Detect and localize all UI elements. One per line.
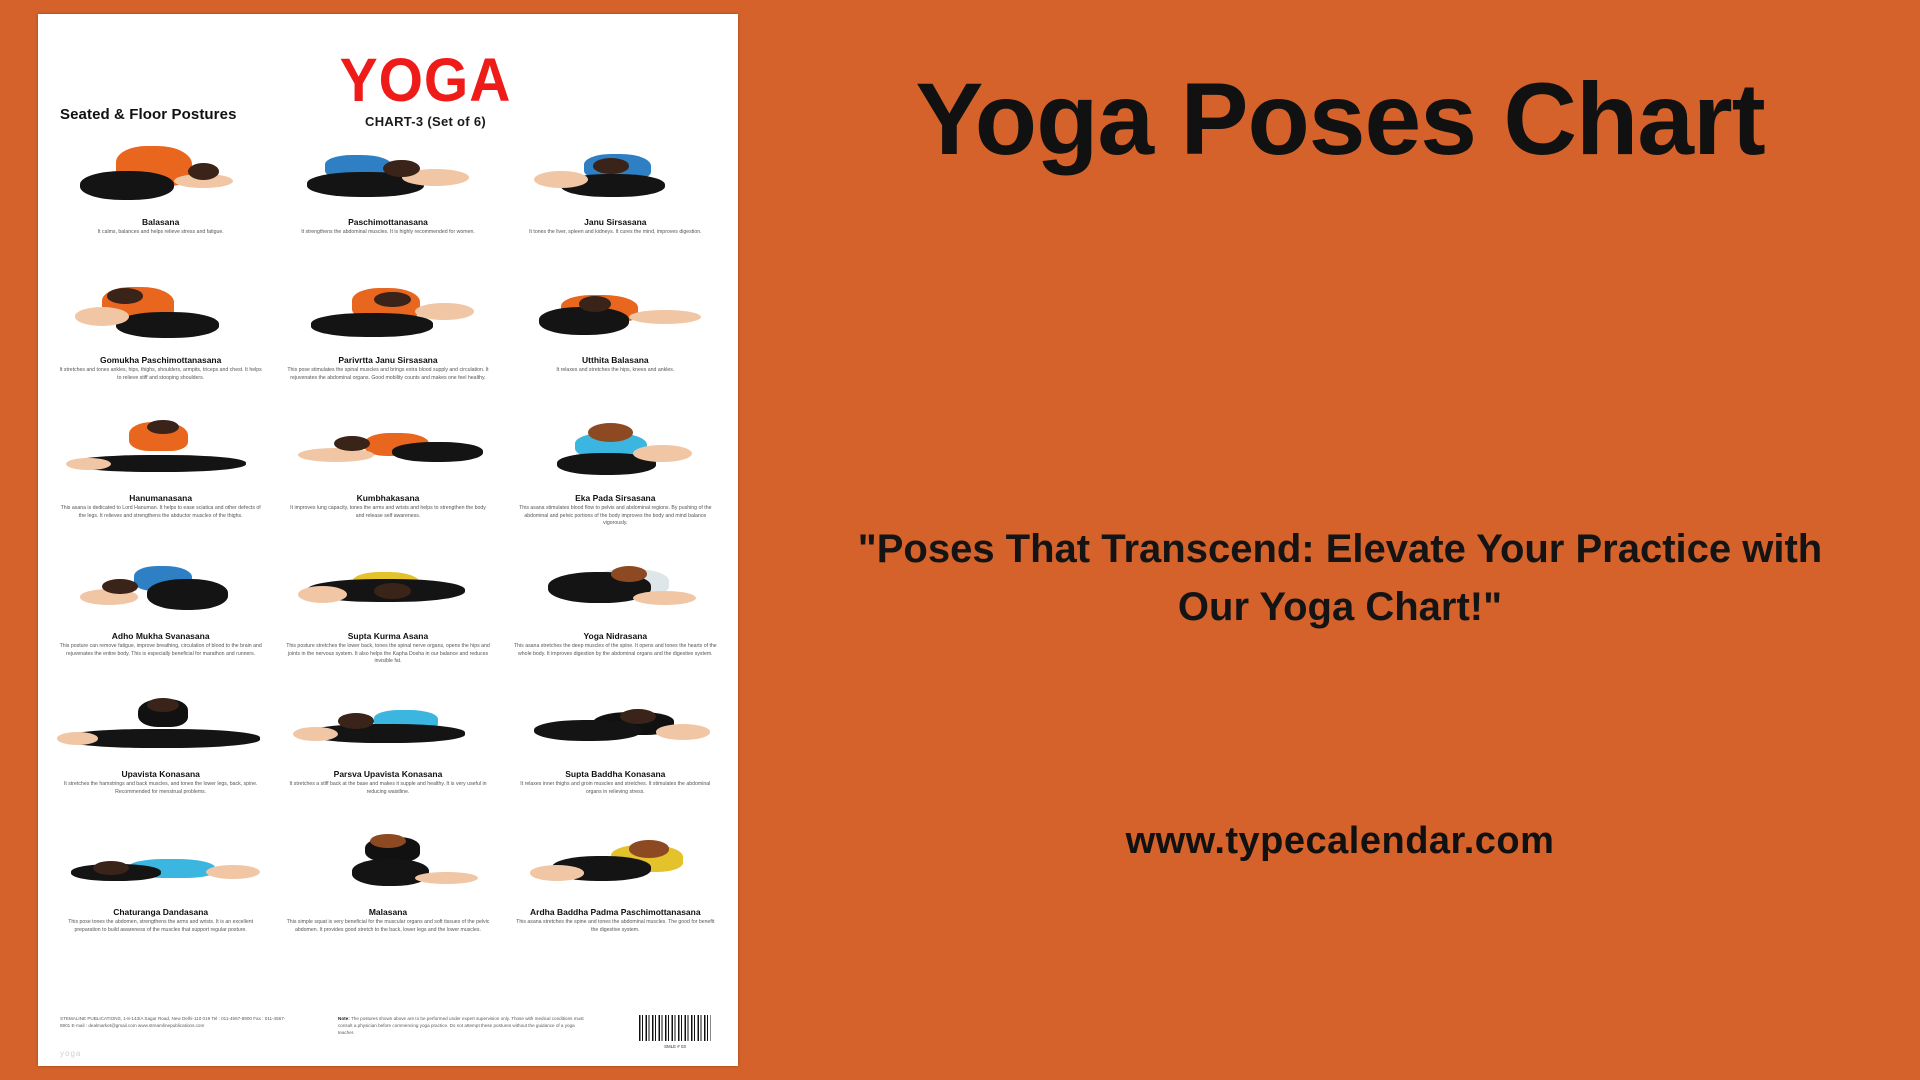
pose-name: Malasana xyxy=(369,908,407,917)
figure-shape xyxy=(534,171,588,188)
pose-cell: HanumanasanaThis asana is dedicated to L… xyxy=(48,414,273,552)
pose-description: This pose tones the abdomen, strengthens… xyxy=(48,919,273,934)
barcode-icon xyxy=(638,1014,712,1042)
barcode-label: SMLE # 03 xyxy=(638,1044,712,1049)
figure-shape xyxy=(579,296,611,312)
pose-description: This posture stretches the lower back, t… xyxy=(275,643,500,666)
pose-description: It relaxes inner thighs and groin muscle… xyxy=(503,781,728,796)
pose-photo xyxy=(275,414,500,492)
pose-cell: BalasanaIt calms, balances and helps rel… xyxy=(48,138,273,276)
pose-name: Hanumanasana xyxy=(129,494,192,503)
pose-description: It stretches and tones ankles, hips, thi… xyxy=(48,367,273,382)
footer-note: Note: The postures shown above are to be… xyxy=(338,1016,588,1037)
footer-note-label: Note: xyxy=(338,1016,350,1021)
figure-shape xyxy=(415,303,474,320)
pose-cell: Adho Mukha SvanasanaThis posture can rem… xyxy=(48,552,273,690)
pose-name: Yoga Nidrasana xyxy=(584,632,648,641)
figure-shape xyxy=(633,445,692,462)
figure-shape xyxy=(374,292,410,308)
pose-description: This posture can remove fatigue, improve… xyxy=(48,643,273,658)
pose-photo xyxy=(275,690,500,768)
poster-header: YOGA CHART-3 (Set of 6) Seated & Floor P… xyxy=(38,14,738,110)
pose-photo xyxy=(48,690,273,768)
figure-shape xyxy=(107,288,143,304)
figure-shape xyxy=(530,865,584,881)
pose-cell: PaschimottanasanaIt strengthens the abdo… xyxy=(275,138,500,276)
pose-description: It relaxes and stretches the hips, knees… xyxy=(546,367,684,375)
tagline-quote: "Poses That Transcend: Elevate Your Prac… xyxy=(830,520,1850,636)
figure-shape xyxy=(629,840,670,857)
pose-photo xyxy=(275,552,500,630)
figure-shape xyxy=(102,579,138,595)
pose-cell: Supta Baddha KonasanaIt relaxes inner th… xyxy=(503,690,728,828)
watermark: yoga xyxy=(60,1049,81,1058)
publisher-info: STEMALINE PUBLICATIONS, 1-8-143/A Sagar … xyxy=(60,1016,290,1030)
pose-cell: Supta Kurma AsanaThis posture stretches … xyxy=(275,552,500,690)
pose-name: Gomukha Paschimottanasana xyxy=(100,356,221,365)
pose-name: Supta Baddha Konasana xyxy=(565,770,665,779)
figure-shape xyxy=(629,310,701,324)
figure-shape xyxy=(620,709,656,725)
website-url[interactable]: www.typecalendar.com xyxy=(760,820,1920,863)
figure-shape xyxy=(593,158,629,174)
figure-shape xyxy=(75,307,129,326)
pose-description: This asana stretches the deep muscles of… xyxy=(503,643,728,658)
pose-cell: MalasanaThis simple squat is very benefi… xyxy=(275,828,500,966)
figure-shape xyxy=(206,865,260,879)
pose-description: This asana stimulates blood flow to pelv… xyxy=(503,505,728,528)
pose-cell: Chaturanga DandasanaThis pose tones the … xyxy=(48,828,273,966)
pose-description: It stretches a stiff back at the base an… xyxy=(275,781,500,796)
pose-cell: KumbhakasanaIt improves lung capacity, t… xyxy=(275,414,500,552)
pose-description: This asana stretches the spine and tones… xyxy=(503,919,728,934)
pose-cell: Janu SirsasanaIt tones the liver, spleen… xyxy=(503,138,728,276)
pose-cell: Ardha Baddha Padma PaschimottanasanaThis… xyxy=(503,828,728,966)
pose-name: Upavista Konasana xyxy=(121,770,199,779)
figure-shape xyxy=(415,872,478,884)
pose-photo xyxy=(503,828,728,906)
pose-cell: Eka Pada SirsasanaThis asana stimulates … xyxy=(503,414,728,552)
figure-shape xyxy=(374,583,410,599)
pose-photo xyxy=(275,276,500,354)
pose-photo xyxy=(48,828,273,906)
figure-shape xyxy=(611,566,647,582)
figure-shape xyxy=(352,859,429,886)
pose-name: Parsva Upavista Konasana xyxy=(334,770,443,779)
figure-shape xyxy=(383,160,419,177)
yoga-chart-poster: YOGA CHART-3 (Set of 6) Seated & Floor P… xyxy=(38,14,738,1066)
pose-name: Kumbhakasana xyxy=(357,494,420,503)
figure-shape xyxy=(80,171,175,201)
pose-photo xyxy=(503,138,728,216)
pose-photo xyxy=(48,276,273,354)
poster-title: YOGA xyxy=(38,50,738,112)
pose-photo xyxy=(48,414,273,492)
pose-name: Paschimottanasana xyxy=(348,218,428,227)
pose-photo xyxy=(503,552,728,630)
pose-cell: Parsva Upavista KonasanaIt stretches a s… xyxy=(275,690,500,828)
poster-footer: STEMALINE PUBLICATIONS, 1-8-143/A Sagar … xyxy=(38,1014,738,1060)
pose-name: Ardha Baddha Padma Paschimottanasana xyxy=(530,908,701,917)
right-panel: Yoga Poses Chart "Poses That Transcend: … xyxy=(760,0,1920,1080)
pose-cell: Gomukha PaschimottanasanaIt stretches an… xyxy=(48,276,273,414)
pose-name: Utthita Balasana xyxy=(582,356,649,365)
figure-shape xyxy=(633,591,696,605)
pose-description: This asana is dedicated to Lord Hanuman.… xyxy=(48,505,273,520)
figure-shape xyxy=(93,861,129,875)
figure-shape xyxy=(298,586,348,603)
pose-cell: Parivrtta Janu SirsasanaThis pose stimul… xyxy=(275,276,500,414)
footer-note-text: The postures shown above are to be perfo… xyxy=(338,1016,584,1035)
figure-shape xyxy=(539,307,629,335)
pose-cell: Utthita BalasanaIt relaxes and stretches… xyxy=(503,276,728,414)
figure-shape xyxy=(116,312,220,339)
pose-description: It tones the liver, spleen and kidneys. … xyxy=(519,229,711,237)
figure-shape xyxy=(66,458,111,470)
figure-shape xyxy=(147,579,228,610)
pose-photo xyxy=(503,690,728,768)
figure-shape xyxy=(534,720,642,742)
pose-name: Supta Kurma Asana xyxy=(348,632,428,641)
figure-shape xyxy=(147,698,179,712)
poster-section-label: Seated & Floor Postures xyxy=(60,106,237,123)
pose-photo xyxy=(48,552,273,630)
pose-name: Chaturanga Dandasana xyxy=(113,908,208,917)
figure-shape xyxy=(392,442,482,462)
pose-description: This simple squat is very beneficial for… xyxy=(275,919,500,934)
pose-photo xyxy=(48,138,273,216)
pose-cell: Yoga NidrasanaThis asana stretches the d… xyxy=(503,552,728,690)
pose-name: Adho Mukha Svanasana xyxy=(112,632,210,641)
pose-photo xyxy=(503,414,728,492)
figure-shape xyxy=(298,448,375,462)
pose-description: It strengthens the abdominal muscles. It… xyxy=(291,229,485,237)
pose-description: It calms, balances and helps relieve str… xyxy=(88,229,234,237)
pose-name: Parivrtta Janu Sirsasana xyxy=(338,356,437,365)
pose-photo xyxy=(275,828,500,906)
pose-photo xyxy=(275,138,500,216)
pose-photo xyxy=(503,276,728,354)
figure-shape xyxy=(57,732,98,744)
figure-shape xyxy=(311,313,433,336)
pose-cell: Upavista KonasanaIt stretches the hamstr… xyxy=(48,690,273,828)
page-title: Yoga Poses Chart xyxy=(760,66,1920,173)
figure-shape xyxy=(656,724,710,740)
pose-grid: BalasanaIt calms, balances and helps rel… xyxy=(48,138,728,966)
pose-description: This pose stimulates the spinal muscles … xyxy=(275,367,500,382)
pose-description: It improves lung capacity, tones the arm… xyxy=(275,505,500,520)
pose-name: Janu Sirsasana xyxy=(584,218,646,227)
pose-description: It stretches the hamstrings and back mus… xyxy=(48,781,273,796)
pose-name: Balasana xyxy=(142,218,179,227)
pose-name: Eka Pada Sirsasana xyxy=(575,494,655,503)
